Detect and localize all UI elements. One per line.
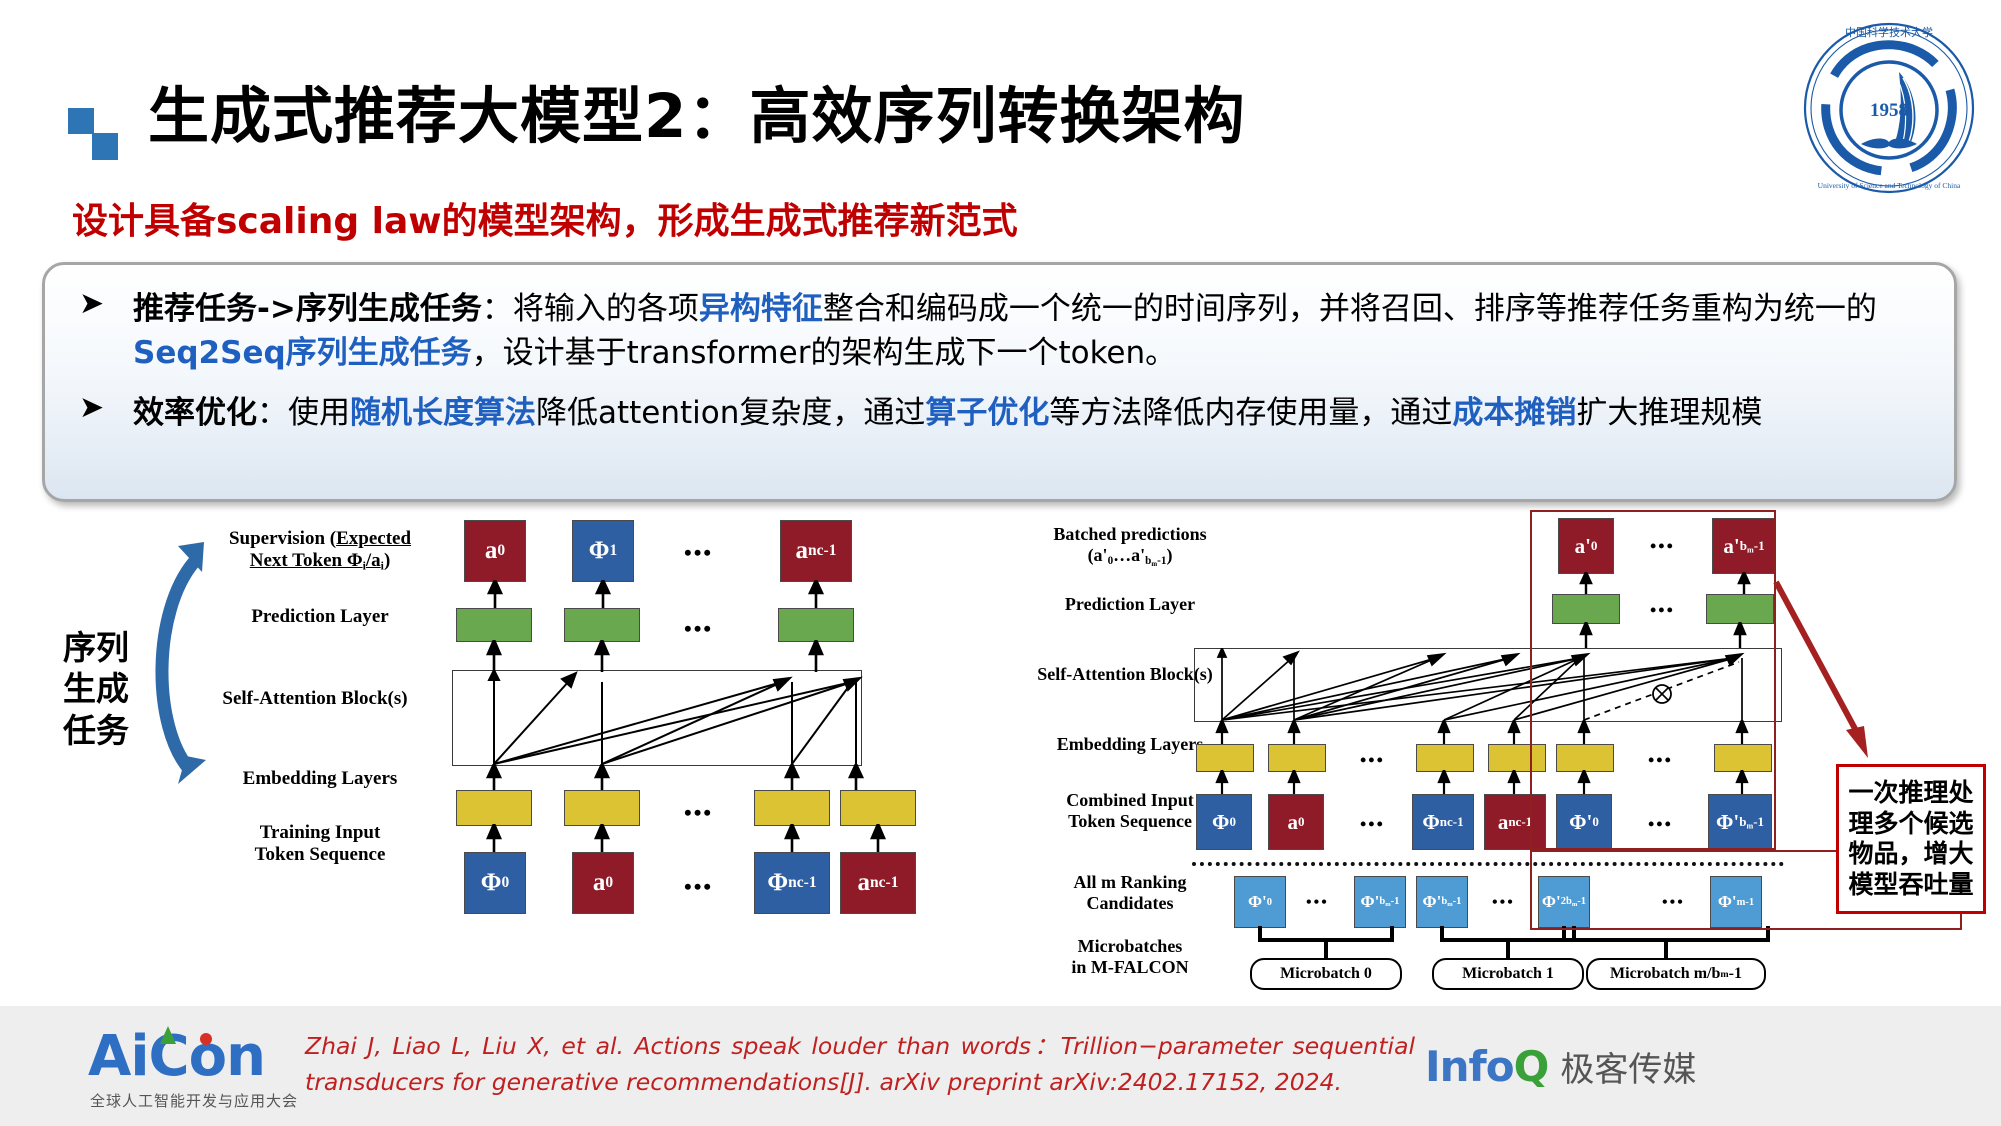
left-embedding-ellipsis: ••• bbox=[684, 800, 713, 826]
callout-text: 一次推理处理多个候选物品，增大模型吞吐量 bbox=[1839, 778, 1983, 900]
right-embedding-ellipsis: ••• bbox=[1360, 750, 1385, 771]
title-marker-icon bbox=[68, 108, 118, 160]
left-embedding-box-1 bbox=[564, 790, 640, 826]
left-input-token-3: anc-1 bbox=[840, 852, 916, 914]
infoq-cn-word: 极客传媒 bbox=[1560, 1050, 1696, 1090]
left-label-prediction-layer: Prediction Layer bbox=[200, 606, 440, 628]
bullet-1-seg-5: ，设计基于transformer的架构生成下一个token。 bbox=[472, 335, 1176, 371]
right-input-token-0: Φ0 bbox=[1196, 794, 1252, 850]
left-input-token-0: Φ0 bbox=[464, 852, 526, 914]
svg-text:University of Science and Tech: University of Science and Technology of … bbox=[1818, 181, 1961, 190]
left-input-token-1: a0 bbox=[572, 852, 634, 914]
right-label-prediction-layer: Prediction Layer bbox=[1010, 594, 1250, 615]
left-output-token-1: Φ1 bbox=[572, 520, 634, 582]
aicon-logo: AiCon 全球人工智能开发与应用大会 bbox=[88, 1024, 298, 1110]
left-arrows-pred-to-output bbox=[450, 580, 880, 610]
microbatch-pill-1: Microbatch 1 bbox=[1432, 958, 1584, 990]
bullet-2-seg-6: 成本摊销 bbox=[1452, 395, 1576, 431]
microbatch-pill-2: Microbatch m/bm-1 bbox=[1586, 958, 1766, 990]
left-embedding-box-3 bbox=[840, 790, 916, 826]
bullet-2-seg-1: ：使用 bbox=[257, 395, 350, 431]
right-embedding-box-1 bbox=[1268, 744, 1326, 772]
ustc-logo: 1958 中国科学技术大学 University of Science and … bbox=[1799, 18, 1979, 198]
aicon-accent-icon bbox=[156, 1026, 178, 1046]
svg-text:中国科学技术大学: 中国科学技术大学 bbox=[1845, 25, 1933, 39]
footer-bar: AiCon 全球人工智能开发与应用大会 Zhai J, Liao L, Liu … bbox=[0, 1006, 2001, 1126]
microbatch-pill-0: Microbatch 0 bbox=[1250, 958, 1402, 990]
left-input-ellipsis: ••• bbox=[684, 874, 713, 900]
left-input-token-2: Φnc-1 bbox=[754, 852, 830, 914]
left-label-training-input: Training InputToken Sequence bbox=[200, 822, 440, 867]
left-output-token-last: anc-1 bbox=[780, 520, 852, 582]
infoq-logo: InfoQ极客传媒 bbox=[1425, 1042, 1696, 1091]
bullet-marker-icon: ➤ bbox=[79, 393, 109, 423]
infoq-info-word: Info bbox=[1425, 1042, 1514, 1091]
candidate-token-2: Φ'bm-1 bbox=[1416, 876, 1468, 928]
bullet-text-2: 效率优化：使用随机长度算法降低attention复杂度，通过算子优化等方法降低内… bbox=[133, 391, 1932, 435]
left-output-ellipsis: ••• bbox=[684, 540, 713, 566]
page-subtitle: 设计具备scaling law的模型架构，形成生成式推荐新范式 bbox=[72, 192, 1018, 244]
right-input-token-2: Φnc-1 bbox=[1412, 794, 1474, 850]
left-embedding-box-2 bbox=[754, 790, 830, 826]
infoq-q-word: Q bbox=[1514, 1042, 1549, 1091]
right-label-ranking-candidates: All m RankingCandidates bbox=[1010, 872, 1250, 914]
bullet-1-seg-3: 整合和编码成一个统一的时间序列，并将召回、排序等推荐任务重构为统一的 bbox=[823, 291, 1877, 327]
candidate-token-0: Φ'0 bbox=[1234, 876, 1286, 928]
callout-box: 一次推理处理多个候选物品，增大模型吞吐量 bbox=[1836, 764, 1986, 914]
bullet-2-seg-0: 效率优化 bbox=[133, 395, 257, 431]
right-label-batched-predictions: Batched predictions(a'0…a'bm-1) bbox=[1010, 524, 1250, 569]
bullet-1-seg-4: Seq2Seq序列生成任务 bbox=[133, 335, 472, 371]
candidate-ellipsis-1: ••• bbox=[1492, 894, 1515, 912]
left-attention-edges bbox=[452, 670, 864, 766]
right-input-ellipsis: ••• bbox=[1360, 814, 1385, 835]
aicon-subtitle: 全球人工智能开发与应用大会 bbox=[90, 1090, 298, 1111]
left-prediction-ellipsis: ••• bbox=[684, 616, 713, 642]
left-embedding-box-0 bbox=[456, 790, 532, 826]
left-output-token-0: a0 bbox=[464, 520, 526, 582]
figure-area: 序列生成任务 Supervision (ExpectedNext Token Φ… bbox=[0, 512, 2001, 1012]
left-label-supervision: Supervision (ExpectedNext Token Φi/ai) bbox=[200, 528, 440, 574]
left-label-embedding-layers: Embedding Layers bbox=[200, 768, 440, 790]
highlight-rect-upper bbox=[1530, 510, 1776, 850]
left-arrows-attn-to-pred bbox=[450, 640, 880, 674]
bullet-row-1: ➤ 推荐任务->序列生成任务：将输入的各项异构特征整合和编码成一个统一的时间序列… bbox=[79, 287, 1932, 375]
left-label-self-attention: Self-Attention Block(s) bbox=[190, 688, 440, 710]
candidate-token-1: Φ'bm-1 bbox=[1354, 876, 1406, 928]
bullet-1-seg-0: 推荐任务->序列生成任务 bbox=[133, 291, 482, 327]
left-prediction-box-1 bbox=[564, 608, 640, 642]
bullet-panel: ➤ 推荐任务->序列生成任务：将输入的各项异构特征整合和编码成一个统一的时间序列… bbox=[42, 262, 1957, 502]
aicon-dot-icon bbox=[199, 1032, 215, 1048]
page-title: 生成式推荐大模型2：高效序列转换架构 bbox=[148, 66, 1245, 155]
bullet-2-seg-3: 降低attention复杂度，通过 bbox=[536, 395, 925, 431]
right-embedding-box-0 bbox=[1196, 744, 1254, 772]
right-embedding-box-2 bbox=[1416, 744, 1474, 772]
bullet-2-seg-5: 等方法降低内存使用量，通过 bbox=[1049, 395, 1452, 431]
bullet-2-seg-2: 随机长度算法 bbox=[350, 395, 536, 431]
bullet-row-2: ➤ 效率优化：使用随机长度算法降低attention复杂度，通过算子优化等方法降… bbox=[79, 391, 1932, 435]
left-prediction-box-last bbox=[778, 608, 854, 642]
svg-text:1958: 1958 bbox=[1870, 100, 1908, 121]
callout-arrow-icon bbox=[1760, 568, 1900, 768]
left-prediction-box-0 bbox=[456, 608, 532, 642]
left-side-label: 序列生成任务 bbox=[48, 627, 144, 751]
citation-text: Zhai J, Liao L, Liu X, et al. Actions sp… bbox=[305, 1028, 1415, 1101]
bullet-1-seg-1: ：将输入的各项 bbox=[482, 291, 699, 327]
bullet-1-seg-2: 异构特征 bbox=[699, 291, 823, 327]
right-input-token-1: a0 bbox=[1268, 794, 1324, 850]
candidate-ellipsis-0: ••• bbox=[1306, 894, 1329, 912]
bullet-2-seg-7: 扩大推理规模 bbox=[1576, 395, 1762, 431]
bullet-text-1: 推荐任务->序列生成任务：将输入的各项异构特征整合和编码成一个统一的时间序列，并… bbox=[133, 287, 1932, 375]
bullet-marker-icon: ➤ bbox=[79, 289, 109, 319]
bullet-2-seg-4: 算子优化 bbox=[925, 395, 1049, 431]
